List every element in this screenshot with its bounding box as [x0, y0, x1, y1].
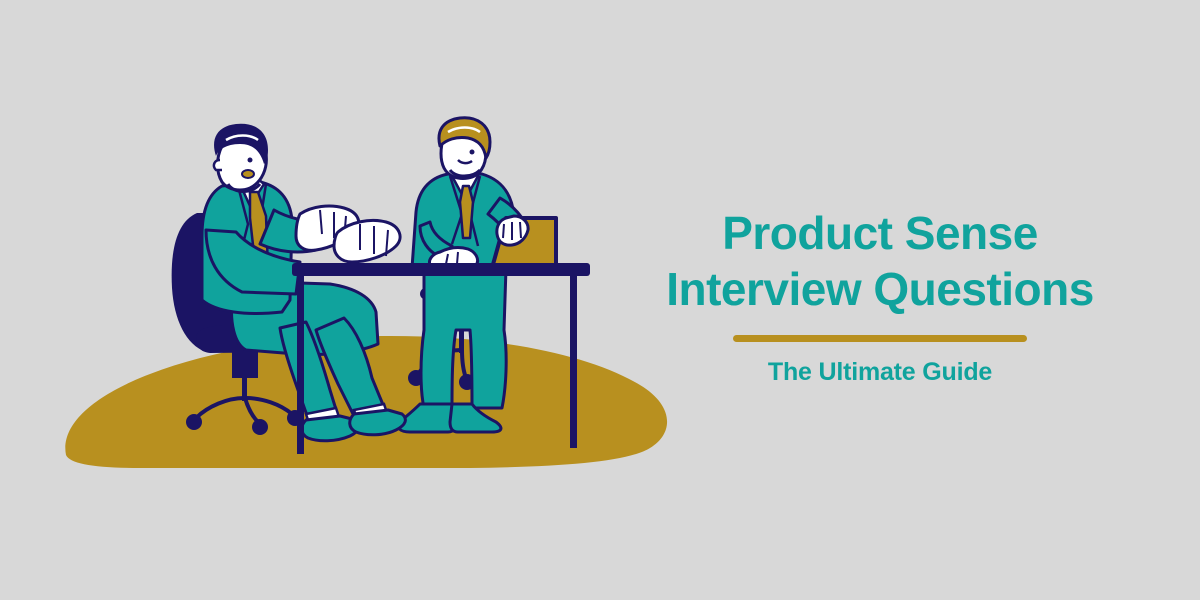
title-divider: [733, 335, 1027, 342]
page-title-line-1: Product Sense: [630, 205, 1130, 261]
page-title-line-2: Interview Questions: [630, 261, 1130, 317]
page-subtitle: The Ultimate Guide: [630, 358, 1130, 387]
desk-leg-left: [297, 274, 304, 454]
interviewer-hands: [296, 206, 400, 262]
interviewer-hand-front: [334, 220, 400, 262]
interviewer-mouth: [242, 170, 254, 178]
desk-leg-right: [570, 274, 577, 448]
text-block: Product Sense Interview Questions The Ul…: [630, 205, 1130, 387]
candidate-tie: [460, 186, 473, 238]
interviewer-shoe-front: [350, 410, 406, 435]
banner: Product Sense Interview Questions The Ul…: [0, 0, 1200, 600]
desk-top: [292, 263, 590, 276]
interview-illustration: [0, 0, 700, 600]
